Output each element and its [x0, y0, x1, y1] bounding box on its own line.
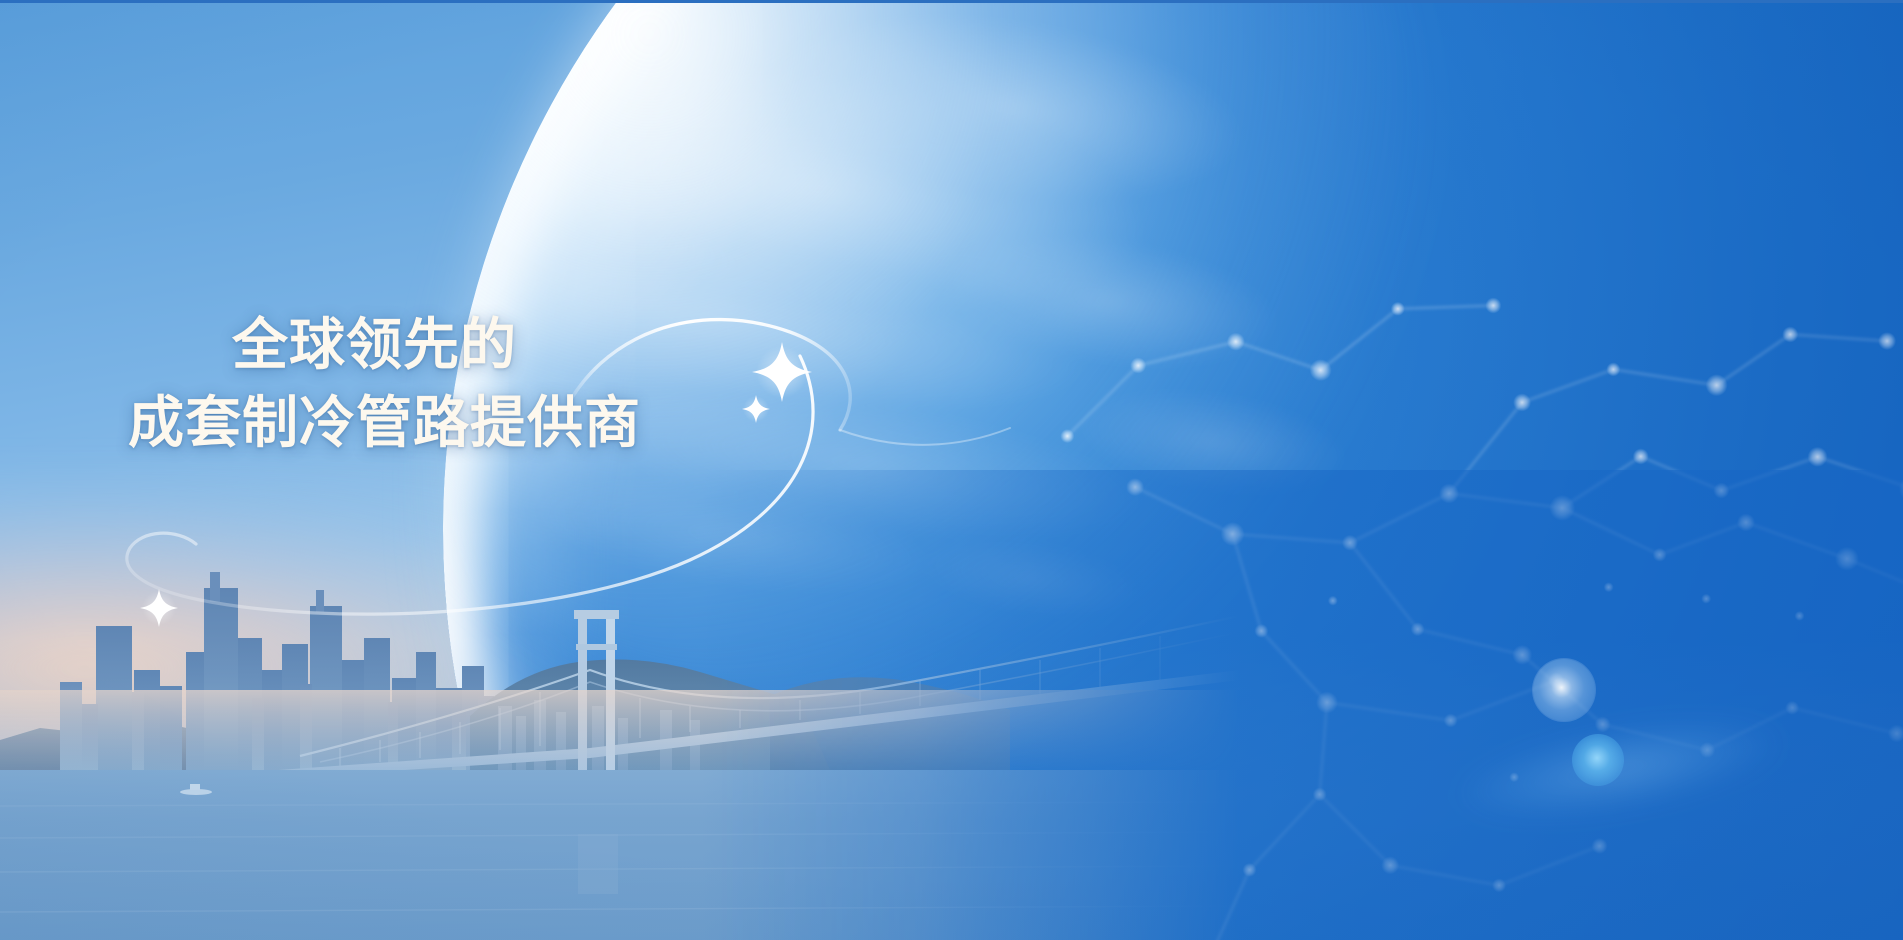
- hero-headline: 全球领先的 成套制冷管路提供商: [128, 306, 948, 462]
- headline-line-2: 成套制冷管路提供商: [128, 384, 948, 462]
- headline-line-1: 全球领先的: [232, 306, 948, 384]
- top-accent-rule: [0, 0, 1903, 3]
- city-and-bridge-photo: [0, 520, 1240, 940]
- hero-banner: 全球领先的 成套制冷管路提供商: [0, 0, 1903, 940]
